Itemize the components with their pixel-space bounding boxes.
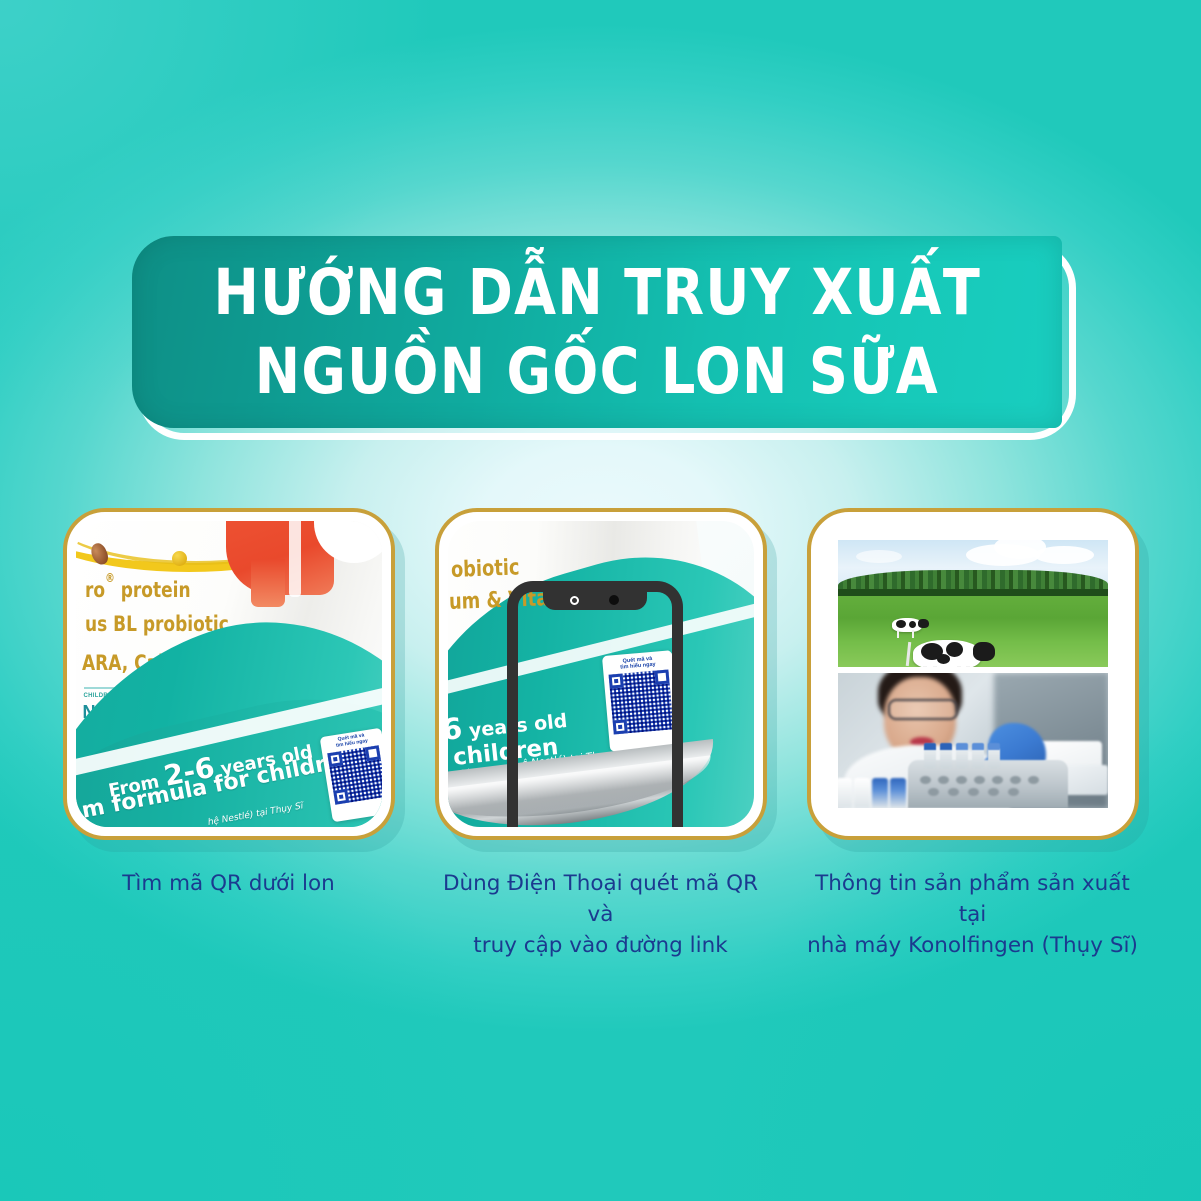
vial-cap [956,743,968,750]
step-card-3-image [820,521,1126,827]
title-banner-fill: HƯỚNG DẪN TRUY XUẤT NGUỒN GỐC LON SỮA [132,236,1062,428]
step-caption-3: Thông tin sản phẩm sản xuất tại nhà máy … [807,868,1139,962]
can-ingredient-line-1: obiotic [450,555,519,583]
scoop-highlight [289,521,301,597]
milk-can-label-art: ro® protein us BL probiotic ARA, Calcium… [76,521,382,827]
step-card-1-image: ro® protein us BL probiotic ARA, Calcium… [76,521,382,827]
cereal-ball-icon [172,551,187,566]
step-caption-2: Dùng Điện Thoại quét mã QR và truy cập v… [435,868,767,962]
phone-scan-scene: obiotic um & Vitamin D 6 years old r chi… [448,521,754,827]
orange-scoop-handle [251,559,285,607]
steps-card-row: ro® protein us BL probiotic ARA, Calcium… [0,508,1201,840]
vial [924,748,936,768]
test-tube-group [838,768,912,808]
poster-root: HƯỚNG DẪN TRUY XUẤT NGUỒN GỐC LON SỮA ro… [0,0,1201,1201]
vial [972,748,984,768]
lab-technician-photo [838,673,1108,808]
step-card-1[interactable]: ro® protein us BL probiotic ARA, Calcium… [63,508,395,840]
step-captions-row: Tìm mã QR dưới lon Dùng Điện Thoại quét … [0,868,1201,962]
cloud-icon [856,550,902,563]
cloud-icon [1034,546,1094,564]
title-banner: HƯỚNG DẪN TRUY XUẤT NGUỒN GỐC LON SỮA [132,236,1080,446]
vial-cap [988,743,1000,750]
qr-code-icon[interactable] [327,745,382,804]
page-title-line-1: HƯỚNG DẪN TRUY XUẤT [213,261,981,324]
cow-icon [892,618,922,632]
step-caption-1: Tìm mã QR dưới lon [63,868,395,962]
cow-icon [913,640,981,667]
phone-notch [543,590,647,610]
vial [956,748,968,768]
safety-glasses-icon [888,699,958,720]
can-ingredient-line-1: ro® protein [85,578,191,602]
sensor-dot-icon [609,595,619,605]
page-title-line-2: NGUỒN GỐC LON SỮA [255,340,939,403]
step-card-3[interactable] [807,508,1139,840]
dairy-cows-pasture-photo [838,540,1108,667]
vial-cap [940,743,952,750]
photo-stack [820,521,1126,827]
vial [988,748,1000,768]
step-card-2-image: obiotic um & Vitamin D 6 years old r chi… [448,521,754,827]
smartphone-frame[interactable] [507,581,683,827]
front-camera-icon [570,596,579,605]
vial [940,748,952,768]
step-card-2[interactable]: obiotic um & Vitamin D 6 years old r chi… [435,508,767,840]
vial-cap [924,743,936,750]
vial-cap [972,743,984,750]
